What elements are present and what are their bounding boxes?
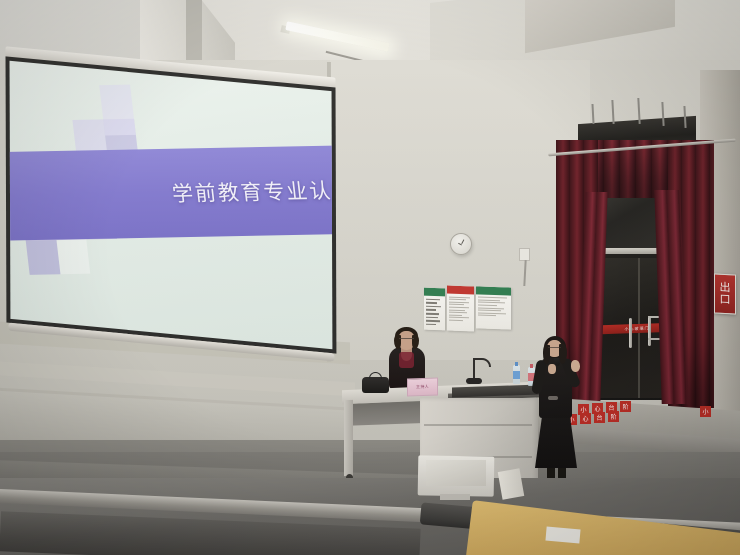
slide-title: 学前教育专业认知 — [10, 145, 333, 241]
foreground-monitor-back — [426, 460, 486, 486]
standing-speaker-glasses — [548, 347, 561, 350]
projection-screen: 学前教育专业认知 — [5, 52, 336, 373]
gooseneck-microphone-base — [466, 378, 482, 384]
bottle-cap-blue — [515, 362, 518, 366]
projection-screen-frame: 学前教育专业认知 — [6, 56, 337, 353]
poster-body-left — [424, 295, 445, 328]
foreground-monitor-stand — [440, 494, 470, 500]
water-bottle-blue — [513, 365, 520, 384]
foreground-book — [498, 468, 525, 499]
exit-sign: 出 口 — [714, 273, 736, 314]
door-handle-left[interactable] — [629, 318, 632, 348]
stage-warning-marker: 阶 — [620, 401, 631, 412]
stage-warning-marker: 阶 — [608, 411, 619, 422]
standing-speaker-hand-right — [571, 360, 580, 372]
lecture-hall-photo: 小心玻璃门 出 口 — [0, 0, 740, 555]
exit-sign-char-2: 口 — [720, 294, 731, 306]
poster-body-right — [476, 294, 511, 320]
projection-screen-surface: 学前教育专业认知 — [10, 61, 333, 350]
stage-warning-marker: 小 — [700, 406, 711, 417]
podium-groove-top — [424, 424, 532, 426]
bottle-cap-red — [530, 364, 533, 368]
standing-speaker-belt — [548, 396, 558, 400]
nameplate: 主持人 — [407, 377, 438, 396]
handbag-handle — [369, 372, 382, 379]
poster-notice-left — [424, 288, 445, 331]
slide-mosaic-square — [100, 84, 136, 135]
poster-body-middle — [447, 294, 474, 324]
poster-notice-right — [476, 286, 511, 329]
handbag — [362, 377, 389, 393]
paper-sheet — [545, 527, 580, 544]
bottle-label-blue — [513, 371, 520, 379]
standing-speaker-hand-left — [548, 364, 556, 374]
wall-clock-icon — [450, 233, 472, 255]
stage-warning-marker: 心 — [580, 413, 591, 424]
poster-notice-middle — [447, 286, 474, 332]
seated-presenter-glasses — [399, 338, 414, 341]
stage-warning-marker: 台 — [594, 412, 605, 423]
door-handle-right[interactable] — [648, 316, 651, 346]
slide-title-band: 学前教育专业认知 — [10, 145, 333, 241]
seated-presenter-scarf — [399, 352, 414, 368]
desk-leg-left — [344, 400, 353, 476]
